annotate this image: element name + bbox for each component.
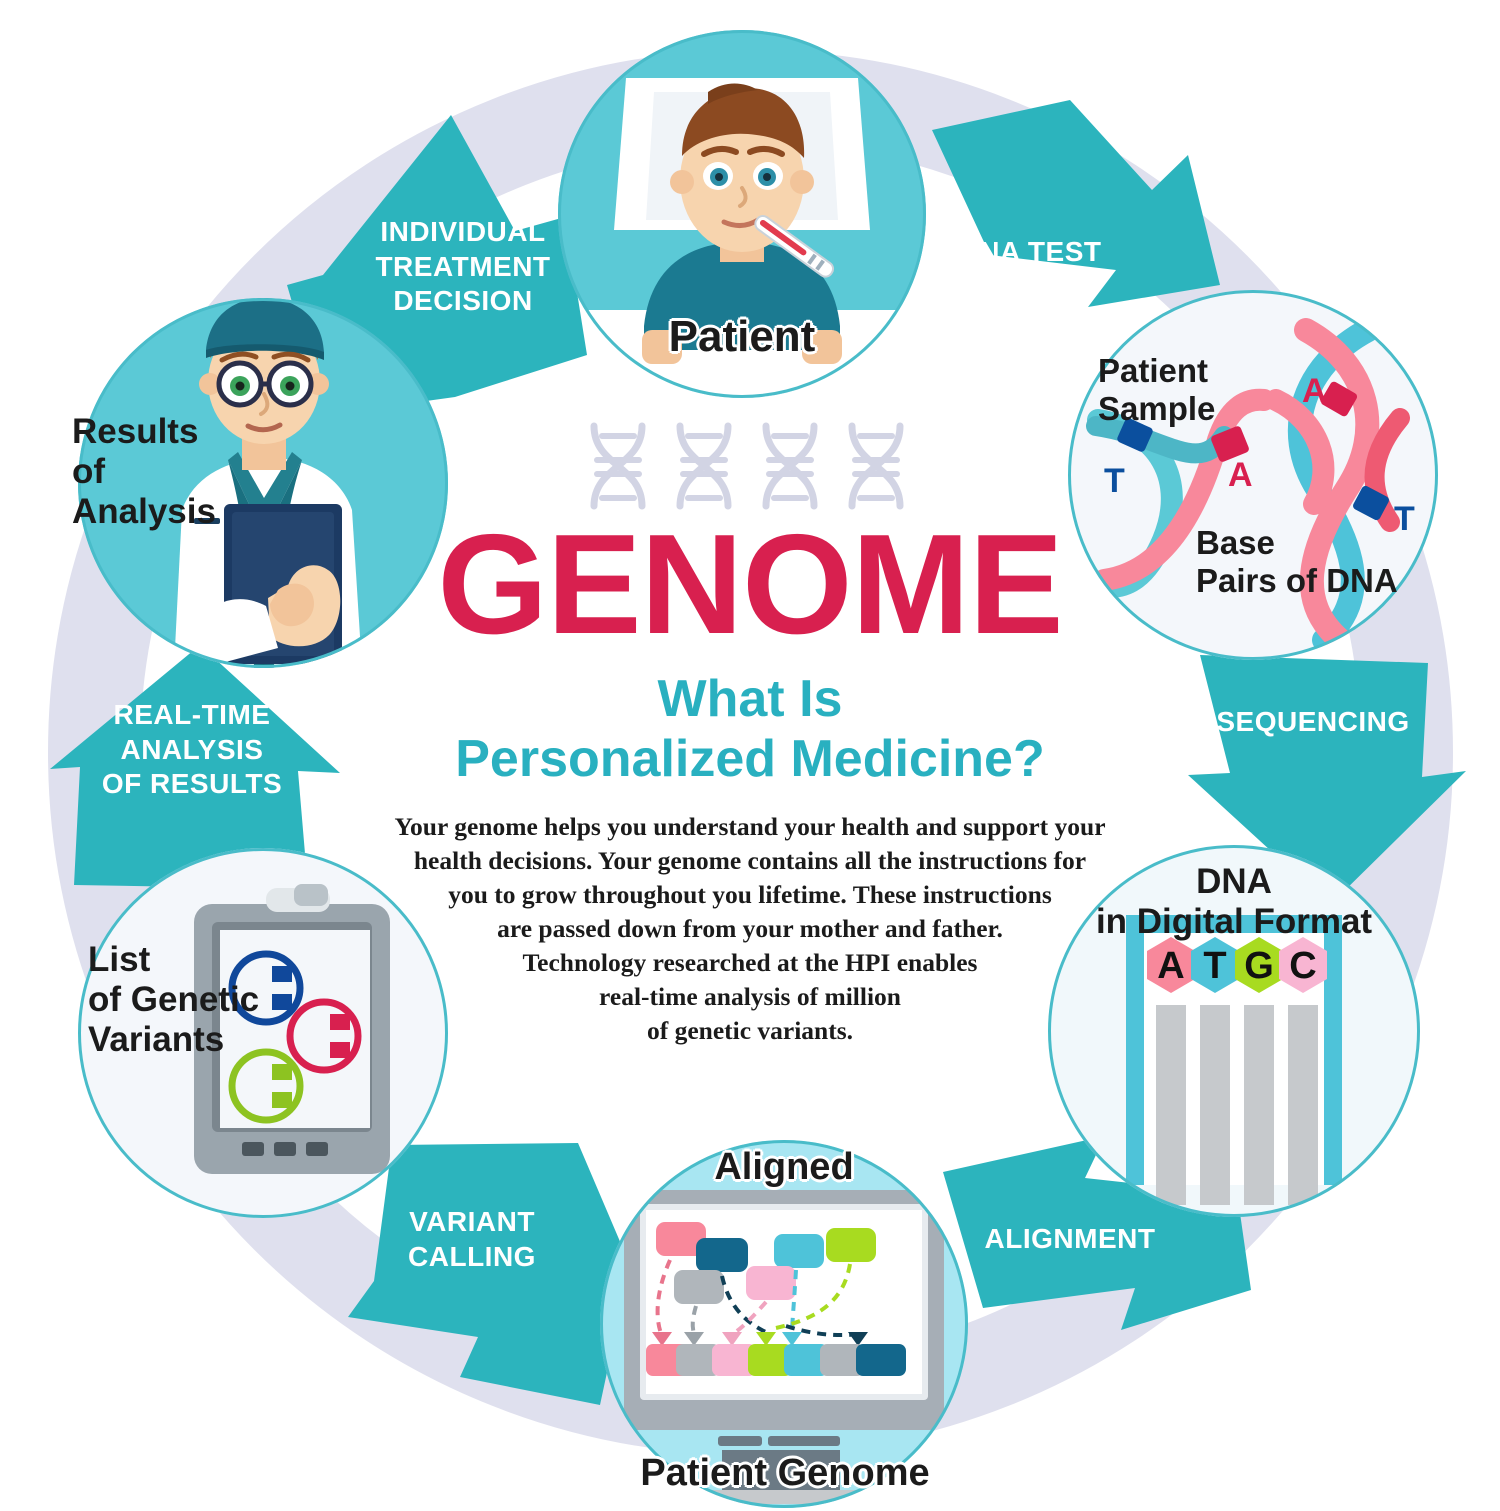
node-results-caption: Results of Analysis	[72, 412, 272, 532]
dna-helix-icon	[580, 420, 920, 512]
node-patient-genome-caption: Patient Genome	[580, 1452, 990, 1495]
node-patient-caption: Patient	[558, 312, 926, 362]
node-aligned-caption: Aligned	[600, 1146, 968, 1189]
arrow-dna-test-label: DNA TEST	[930, 235, 1130, 270]
page-title: GENOME	[380, 518, 1120, 653]
arrow-sequencing-label: SEQUENCING	[1188, 705, 1438, 740]
infographic-canvas: DNA TEST SEQUENCING ALIGNMENT VARIANT CA…	[0, 0, 1500, 1511]
arrow-alignment-label: ALIGNMENT	[940, 1222, 1200, 1257]
node-basepairs-caption: Base Pairs of DNA	[1196, 524, 1406, 599]
center-content: GENOME What Is Personalized Medicine? Yo…	[380, 420, 1120, 1049]
node-sample-caption: Patient Sample	[1098, 352, 1288, 427]
body-paragraph: Your genome helps you understand your he…	[380, 810, 1120, 1049]
page-subtitle: What Is Personalized Medicine?	[380, 669, 1120, 790]
node-patient-sample-border	[1068, 290, 1438, 660]
node-genetic-variants-caption: List of Genetic Variants	[88, 940, 318, 1060]
arrow-real-time-label: REAL-TIME ANALYSIS OF RESULTS	[62, 698, 322, 802]
